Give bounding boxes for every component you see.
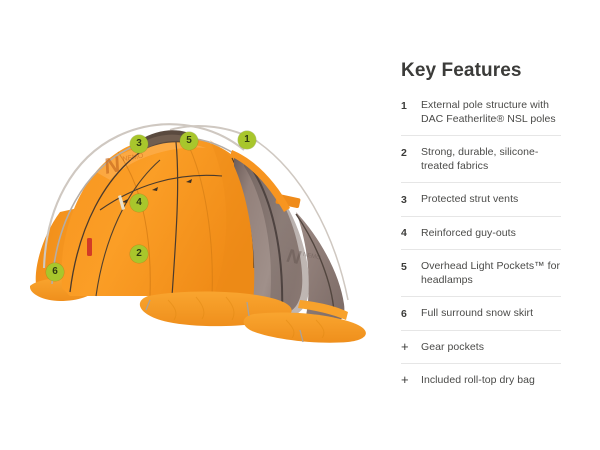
callout-badge-5-label: 5 [186,136,192,146]
callout-badge-4-label: 4 [136,198,142,208]
feature-marker-3: 3 [401,192,421,207]
callout-badge-6[interactable]: 6 [46,263,64,281]
callout-badge-3[interactable]: 3 [130,135,148,153]
feature-item-6: 6 Full surround snow skirt [401,296,561,330]
feature-item-8: + Included roll-top dry bag [401,363,561,396]
tent-illustration: N NEMO N NEMO [0,0,390,450]
feature-list: 1 External pole structure with DAC Feath… [401,98,561,396]
feature-item-4: 4 Reinforced guy-outs [401,216,561,250]
feature-marker-2: 2 [401,145,421,160]
feature-text-5: Overhead Light Pockets™ for headlamps [421,259,561,287]
feature-text-8: Included roll-top dry bag [421,373,535,387]
feature-item-2: 2 Strong, durable, silicone-treated fabr… [401,135,561,182]
callout-badge-6-label: 6 [52,267,58,277]
callout-badge-1-label: 1 [244,135,250,145]
callout-badge-2-label: 2 [136,249,142,259]
feature-marker-1: 1 [401,98,421,113]
feature-text-7: Gear pockets [421,340,484,354]
feature-text-4: Reinforced guy-outs [421,226,516,240]
feature-marker-4: 4 [401,226,421,241]
feature-item-7: + Gear pockets [401,330,561,363]
feature-marker-6: 6 [401,306,421,321]
product-photo: N NEMO N NEMO [0,0,390,450]
feature-text-6: Full surround snow skirt [421,306,533,320]
snow-skirt-right [244,312,366,342]
key-features-panel: Key Features 1 External pole structure w… [390,0,600,450]
panel-title: Key Features [401,60,522,82]
feature-item-5: 5 Overhead Light Pockets™ for headlamps [401,249,561,296]
callout-badge-5[interactable]: 5 [180,132,198,150]
feature-item-3: 3 Protected strut vents [401,182,561,216]
callout-badge-3-label: 3 [136,139,142,149]
feature-marker-7: + [401,340,421,354]
svg-text:N: N [104,151,121,179]
callout-badge-1[interactable]: 1 [238,131,256,149]
page-root: N NEMO N NEMO [0,0,600,450]
feature-item-1: 1 External pole structure with DAC Feath… [401,98,561,135]
feature-marker-8: + [401,373,421,387]
feature-text-1: External pole structure with DAC Feather… [421,98,561,126]
callout-badge-2[interactable]: 2 [130,245,148,263]
zipper-pull-red [87,238,92,256]
feature-text-3: Protected strut vents [421,192,518,206]
callout-badge-4[interactable]: 4 [130,194,148,212]
feature-text-2: Strong, durable, silicone-treated fabric… [421,145,561,173]
feature-marker-5: 5 [401,259,421,274]
